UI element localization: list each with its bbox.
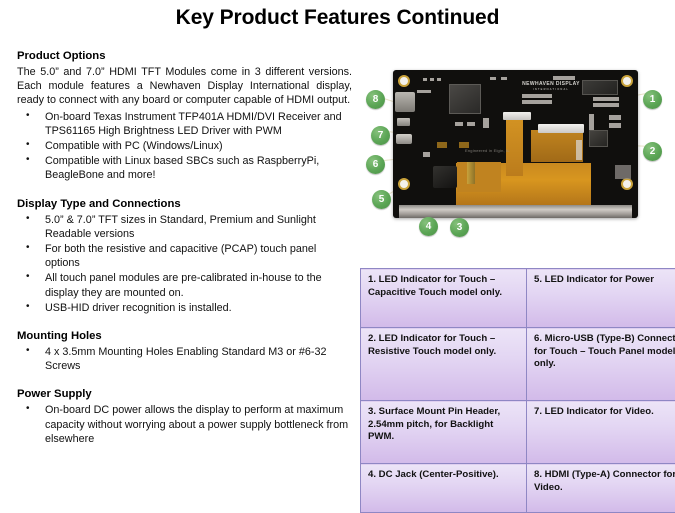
callout-badge-5: 5 — [372, 190, 391, 209]
bullet-list: 5.0” & 7.0” TFT sizes in Standard, Premi… — [17, 213, 352, 315]
smd-component — [490, 77, 496, 80]
table-cell-2: 2. LED Indicator for Touch – Resistive T… — [361, 328, 527, 401]
features-text-column: Product Options The 5.0” and 7.0” HDMI T… — [17, 49, 352, 447]
list-item: On-board DC power allows the display to … — [17, 403, 352, 446]
bullet-list: 4 x 3.5mm Mounting Holes Enabling Standa… — [17, 345, 352, 373]
callout-badge-4: 4 — [419, 217, 438, 236]
section-paragraph: The 5.0” and 7.0” HDMI TFT Modules come … — [17, 65, 352, 108]
table-row: 2. LED Indicator for Touch – Resistive T… — [361, 328, 675, 401]
callout-badge-6: 6 — [366, 155, 385, 174]
smd-component — [615, 165, 631, 179]
list-item: Compatible with Linux based SBCs such as… — [17, 154, 352, 182]
page-title: Key Product Features Continued — [0, 6, 675, 30]
pin-header — [467, 162, 475, 184]
tertiary-ic-chip — [589, 130, 608, 147]
newhaven-logo-silkscreen: NEWHAVEN DISPLAY INTERNATIONAL — [515, 81, 587, 92]
smd-component — [423, 152, 430, 157]
mounting-hole — [621, 178, 633, 190]
table-row: 4. DC Jack (Center-Positive). 8. HDMI (T… — [361, 464, 675, 513]
callout-badge-2: 2 — [643, 142, 662, 161]
usb-connector — [397, 118, 410, 126]
table-row: 1. LED Indicator for Touch – Capacitive … — [361, 269, 675, 328]
smd-component — [483, 118, 489, 128]
callout-badge-1: 1 — [643, 90, 662, 109]
smd-component — [423, 78, 427, 81]
flex-cable-left — [457, 162, 501, 192]
smd-component — [437, 142, 447, 148]
table-cell-4: 4. DC Jack (Center-Positive). — [361, 464, 527, 513]
list-item: 5.0” & 7.0” TFT sizes in Standard, Premi… — [17, 213, 352, 241]
product-photo: NEWHAVEN DISPLAY INTERNATIONAL Engineere… — [360, 60, 667, 250]
table-cell-6: 6. Micro-USB (Type-B) Connector for Touc… — [527, 328, 675, 401]
display-panel-edge — [399, 205, 632, 218]
dc-jack-connector — [433, 166, 457, 188]
smd-component — [553, 76, 575, 80]
mounting-hole — [621, 75, 633, 87]
mounting-hole — [398, 178, 410, 190]
silkscreen-sub: INTERNATIONAL — [515, 87, 587, 93]
smd-component — [459, 142, 469, 148]
smd-component — [455, 122, 463, 126]
white-connector — [538, 124, 584, 133]
silkscreen-note: Engineered in Elgin, IL — [465, 148, 510, 153]
callout-badge-7: 7 — [371, 126, 390, 145]
smd-component — [589, 114, 594, 130]
smd-component — [430, 78, 434, 81]
section-product-options: Product Options The 5.0” and 7.0” HDMI T… — [17, 49, 352, 183]
smd-component — [593, 103, 619, 107]
smd-component — [467, 122, 475, 126]
section-heading: Display Type and Connections — [17, 197, 352, 211]
smd-component — [437, 78, 441, 81]
callout-badge-8: 8 — [366, 90, 385, 109]
list-item: On-board Texas Instrument TFP401A HDMI/D… — [17, 110, 352, 138]
table-cell-7: 7. LED Indicator for Video. — [527, 401, 675, 464]
bullet-list: On-board DC power allows the display to … — [17, 403, 352, 446]
smd-component — [522, 100, 552, 104]
mounting-hole — [398, 75, 410, 87]
section-mounting-holes: Mounting Holes 4 x 3.5mm Mounting Holes … — [17, 329, 352, 373]
hdmi-connector — [395, 92, 415, 112]
callout-badge-3: 3 — [450, 218, 469, 237]
bullet-list: On-board Texas Instrument TFP401A HDMI/D… — [17, 110, 352, 183]
table-row: 3. Surface Mount Pin Header, 2.54mm pitc… — [361, 401, 675, 464]
smd-component — [522, 94, 552, 98]
smd-component — [609, 115, 621, 120]
smd-component — [576, 140, 582, 160]
main-ic-chip — [449, 84, 481, 114]
list-item: 4 x 3.5mm Mounting Holes Enabling Standa… — [17, 345, 352, 373]
section-power-supply: Power Supply On-board DC power allows th… — [17, 387, 352, 446]
smd-component — [501, 77, 507, 80]
list-item: Compatible with PC (Windows/Linux) — [17, 139, 352, 153]
table-cell-3: 3. Surface Mount Pin Header, 2.54mm pitc… — [361, 401, 527, 464]
list-item: All touch panel modules are pre-calibrat… — [17, 271, 352, 299]
smd-component — [609, 123, 621, 128]
callout-reference-table: 1. LED Indicator for Touch – Capacitive … — [360, 268, 675, 513]
list-item: For both the resistive and capacitive (P… — [17, 242, 352, 270]
section-heading: Power Supply — [17, 387, 352, 401]
section-heading: Product Options — [17, 49, 352, 63]
pcb-board-image: NEWHAVEN DISPLAY INTERNATIONAL Engineere… — [393, 70, 638, 218]
table-cell-8: 8. HDMI (Type-A) Connector for Video. — [527, 464, 675, 513]
list-item: USB-HID driver recognition is installed. — [17, 301, 352, 315]
table-cell-1: 1. LED Indicator for Touch – Capacitive … — [361, 269, 527, 328]
section-heading: Mounting Holes — [17, 329, 352, 343]
smd-component — [593, 97, 619, 101]
micro-usb-connector — [396, 134, 412, 144]
section-display-type-and-connections: Display Type and Connections 5.0” & 7.0”… — [17, 197, 352, 315]
white-connector — [503, 112, 531, 120]
table-cell-5: 5. LED Indicator for Power — [527, 269, 675, 328]
smd-component — [417, 90, 431, 93]
secondary-ic-chip — [582, 80, 618, 95]
